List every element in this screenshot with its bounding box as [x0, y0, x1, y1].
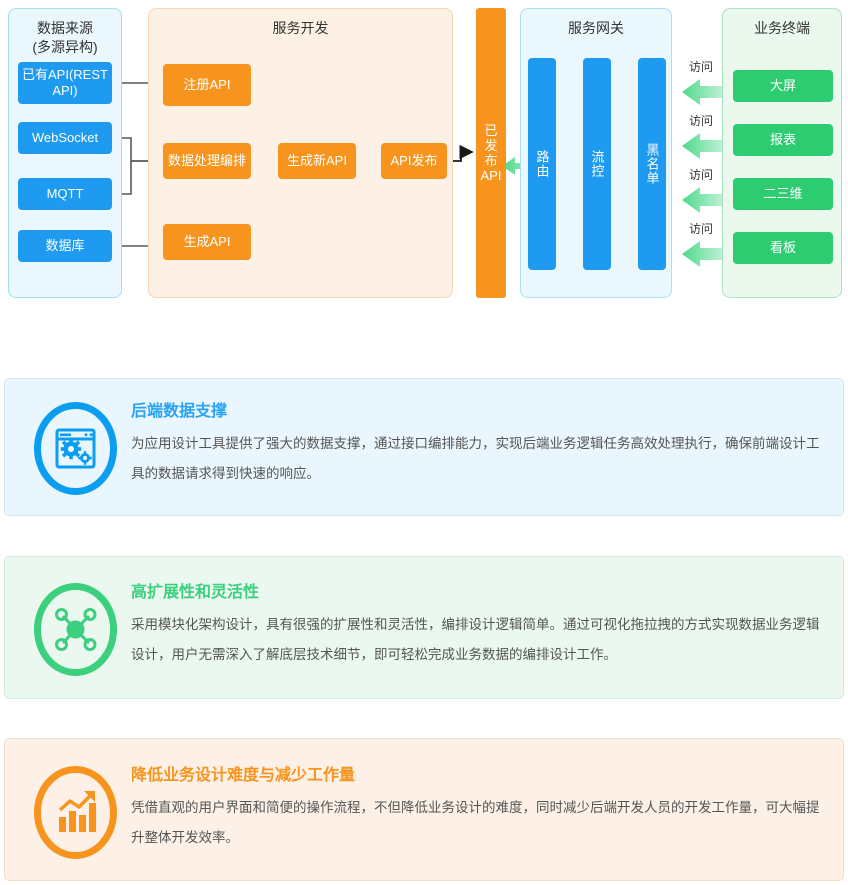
access-label-3: 访问	[689, 168, 713, 182]
browser-gears-icon	[32, 401, 119, 496]
access-label-4: 访问	[689, 222, 713, 236]
architecture-diagram: 数据来源 (多源异构) 服务开发 服务网关 业务终端 已有API(REST AP…	[0, 0, 848, 310]
card-body-2: 高扩展性和灵活性 采用模块化架构设计，具有很强的扩展性和灵活性，编排设计逻辑简单…	[131, 582, 825, 670]
panel-service-gateway-title: 服务网关	[521, 19, 671, 38]
card-title-3: 降低业务设计难度与减少工作量	[131, 765, 825, 787]
node-generate-new-api[interactable]: 生成新API	[278, 143, 356, 179]
node-gateway-blacklist-label: 黑名单	[645, 143, 660, 185]
card-text-2: 采用模块化架构设计，具有很强的扩展性和灵活性，编排设计逻辑简单。通过可视化拖拉拽…	[131, 610, 825, 670]
node-terminal-bigscreen[interactable]: 大屏	[733, 70, 833, 102]
card-title-1: 后端数据支撑	[131, 401, 825, 423]
node-terminal-report[interactable]: 报表	[733, 124, 833, 156]
card-body-1: 后端数据支撑 为应用设计工具提供了强大的数据支撑，通过接口编排能力，实现后端业务…	[131, 401, 825, 489]
node-api-publish[interactable]: API发布	[381, 143, 447, 179]
access-label-1: 访问	[689, 60, 713, 74]
node-data-process-orchestration[interactable]: 数据处理编排	[163, 143, 251, 179]
panel-business-terminal-title: 业务终端	[723, 19, 841, 38]
panel-service-development-title: 服务开发	[149, 19, 452, 38]
node-gateway-blacklist[interactable]: 黑名单	[638, 58, 666, 270]
node-register-api[interactable]: 注册API	[163, 64, 251, 106]
feature-card-high-extensibility: 高扩展性和灵活性 采用模块化架构设计，具有很强的扩展性和灵活性，编排设计逻辑简单…	[4, 556, 844, 699]
node-gateway-flow-control[interactable]: 流控	[583, 58, 611, 270]
node-websocket[interactable]: WebSocket	[18, 122, 112, 154]
access-label-2: 访问	[689, 114, 713, 128]
node-published-api-label: 已 发 布 API	[481, 123, 502, 183]
node-gateway-route[interactable]: 路由	[528, 58, 556, 270]
node-terminal-dashboard[interactable]: 看板	[733, 232, 833, 264]
node-gateway-route-label: 路由	[535, 150, 550, 178]
feature-card-reduce-difficulty: 降低业务设计难度与减少工作量 凭借直观的用户界面和简便的操作流程，不但降低业务设…	[4, 738, 844, 881]
card-text-1: 为应用设计工具提供了强大的数据支撑，通过接口编排能力，实现后端业务逻辑任务高效处…	[131, 429, 825, 489]
card-body-3: 降低业务设计难度与减少工作量 凭借直观的用户界面和简便的操作流程，不但降低业务设…	[131, 765, 825, 853]
feature-card-backend-data-support: 后端数据支撑 为应用设计工具提供了强大的数据支撑，通过接口编排能力，实现后端业务…	[4, 378, 844, 516]
node-published-api[interactable]: 已 发 布 API	[476, 8, 506, 298]
panel-data-source-title: 数据来源 (多源异构)	[9, 19, 121, 57]
network-nodes-icon	[32, 582, 119, 677]
card-title-2: 高扩展性和灵活性	[131, 582, 825, 604]
node-gateway-flow-control-label: 流控	[590, 150, 605, 178]
node-mqtt[interactable]: MQTT	[18, 178, 112, 210]
node-generate-api[interactable]: 生成API	[163, 224, 251, 260]
node-database[interactable]: 数据库	[18, 230, 112, 262]
node-rest-api[interactable]: 已有API(REST API)	[18, 62, 112, 104]
card-text-3: 凭借直观的用户界面和简便的操作流程，不但降低业务设计的难度，同时减少后端开发人员…	[131, 793, 825, 853]
growth-chart-icon	[32, 765, 119, 860]
node-terminal-2d3d[interactable]: 二三维	[733, 178, 833, 210]
